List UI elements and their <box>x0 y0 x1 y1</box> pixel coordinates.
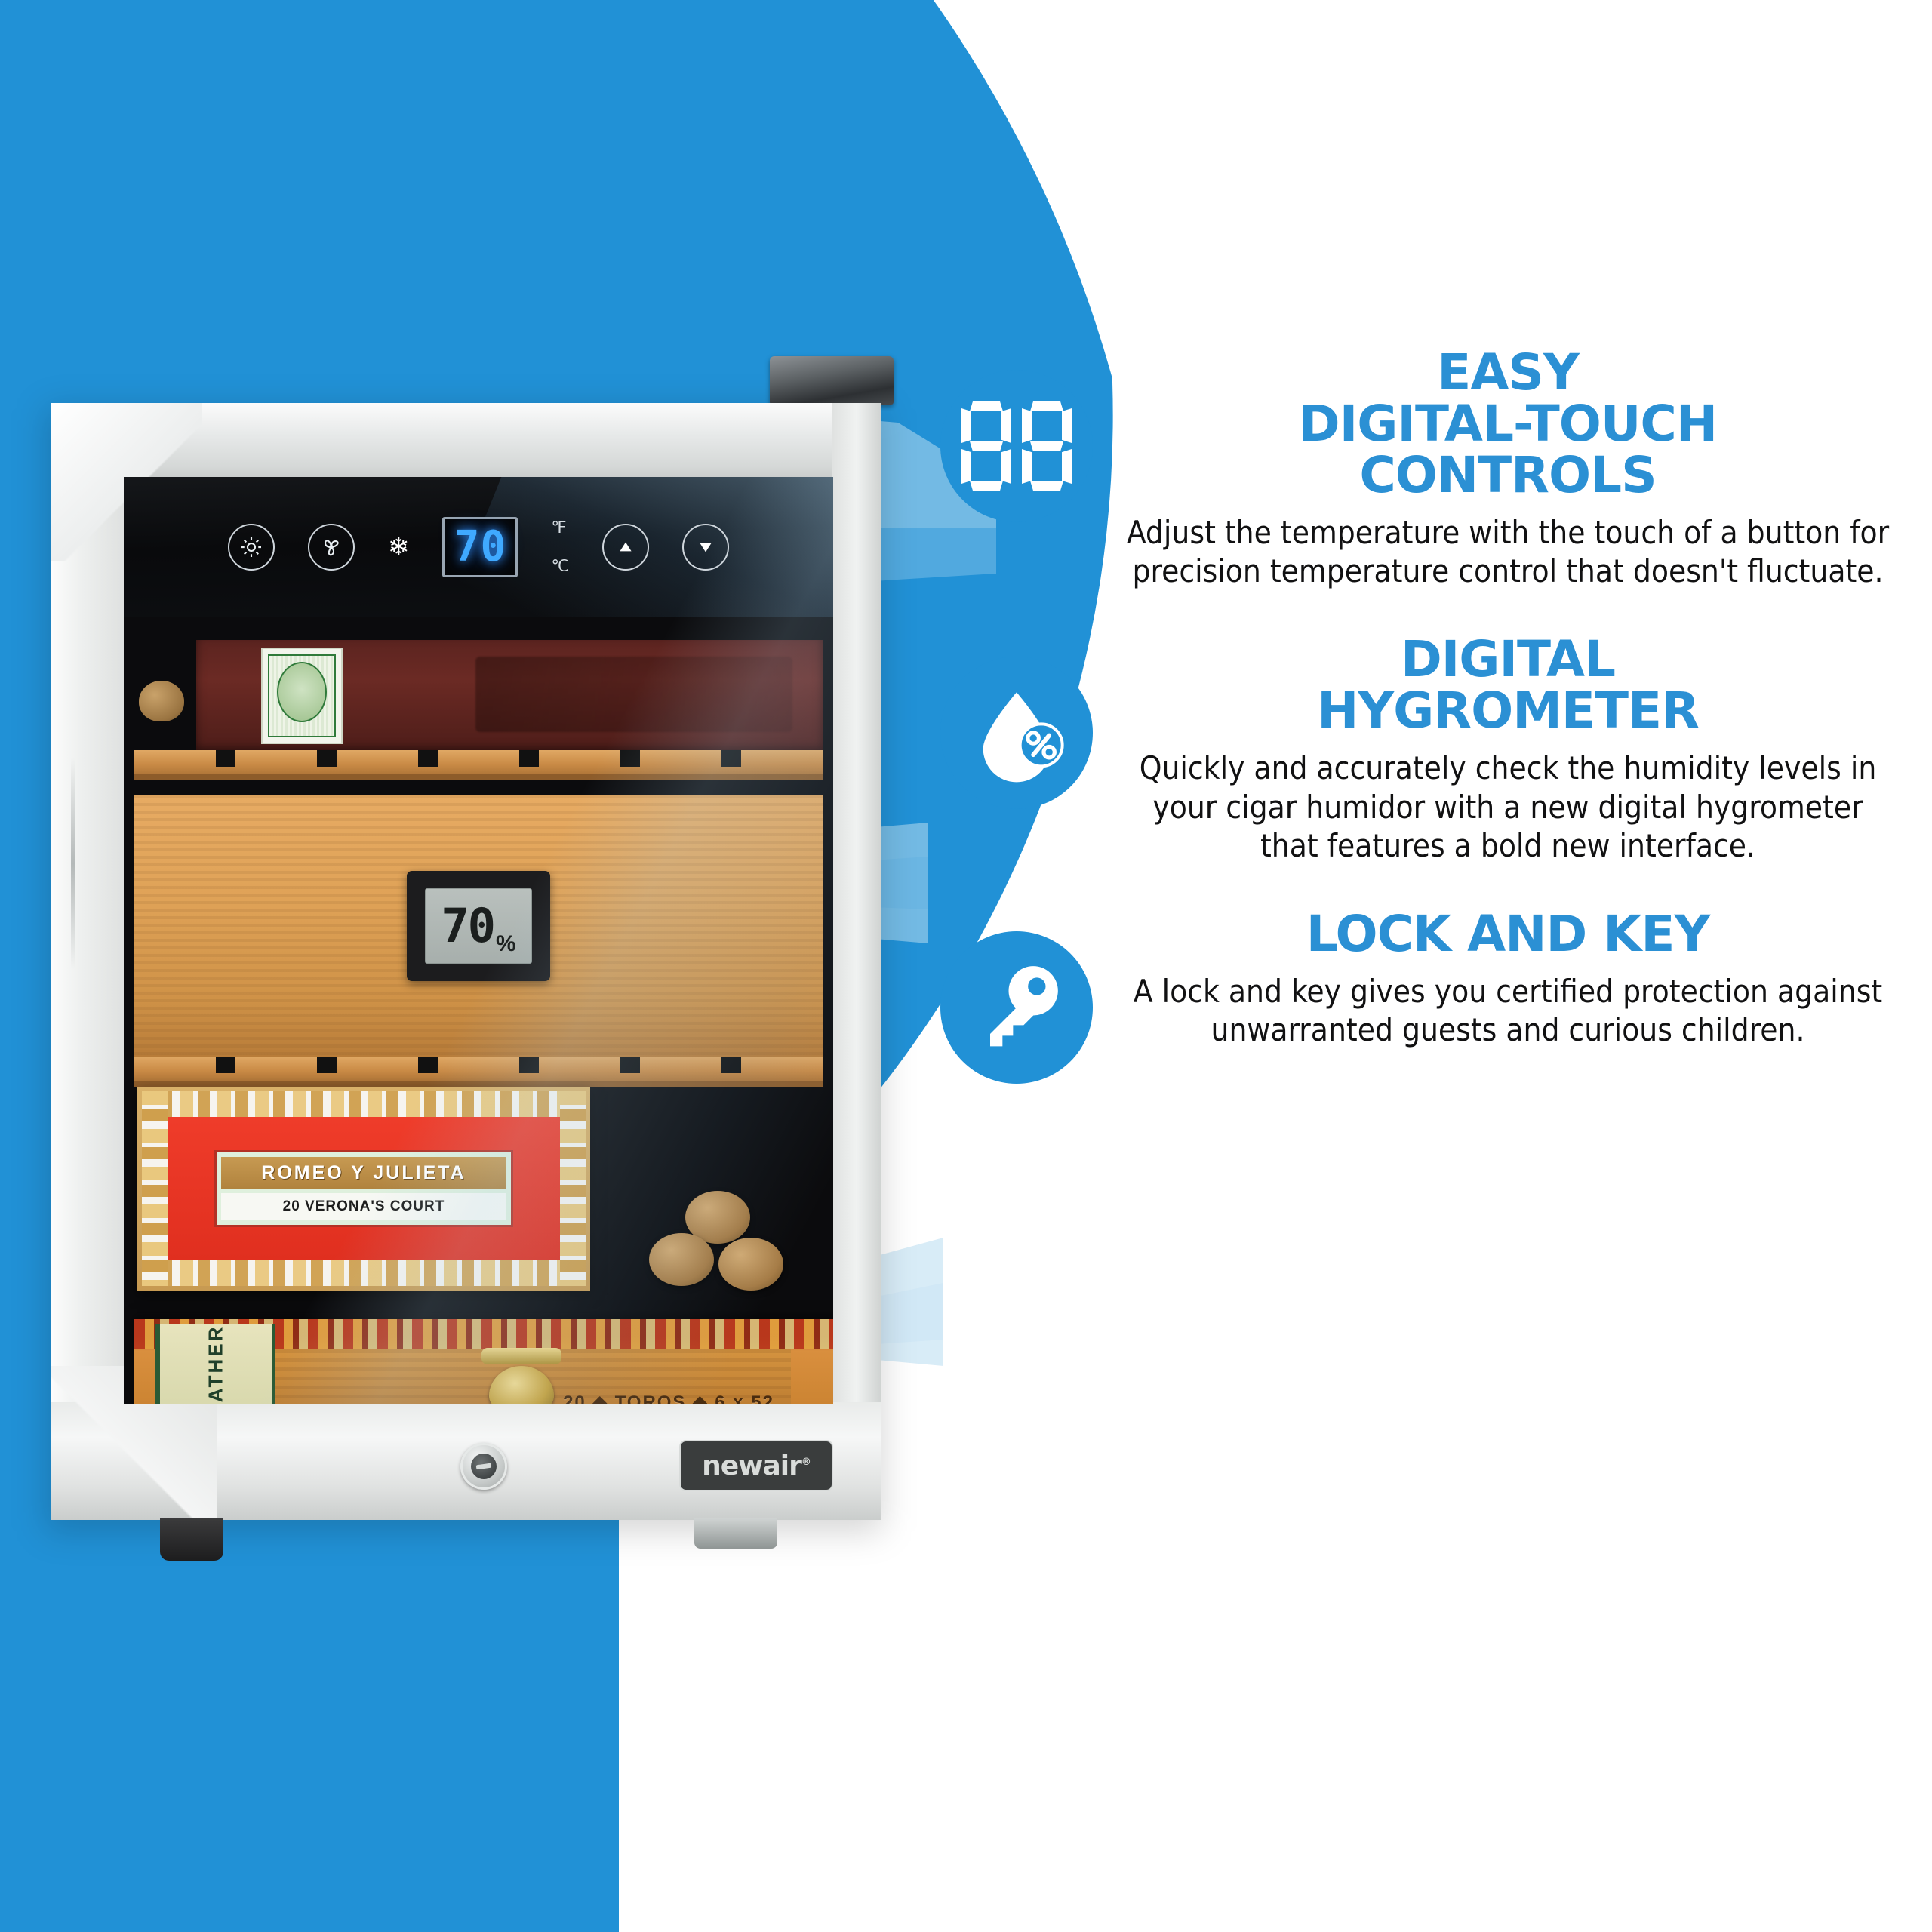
cigar-brand-name-bottom: MY FATHER <box>205 1325 228 1404</box>
digital-hygrometer: 70 % <box>407 871 550 981</box>
feature-text-block: DIGITAL HYGROMETER Quickly and accuratel… <box>1123 634 1893 865</box>
seven-segment-display-icon <box>940 370 1093 522</box>
feature-title: LOCK AND KEY <box>1123 909 1893 960</box>
seven-segment-digit <box>961 401 1011 491</box>
box-emboss <box>475 657 792 732</box>
cigar-box-upper <box>196 640 823 753</box>
feature-list: EASY DIGITAL-TOUCH CONTROLS Adjust the t… <box>921 347 1909 1093</box>
cigar-box-count-bottom: 20 ◆ TOROS ◆ 6 x 52 <box>563 1392 774 1404</box>
feature-description: A lock and key gives you certified prote… <box>1123 972 1893 1049</box>
shelf-front-edge <box>134 774 823 780</box>
medallion-band-right <box>560 1091 586 1286</box>
cigar-box-my-father: 20 ◆ TOROS ◆ 6 x 52 WARNING: This Produc… <box>134 1319 833 1404</box>
feature-title-line: DIGITAL <box>1401 630 1615 688</box>
havana-seal-stamp <box>261 648 343 744</box>
cigar-end <box>718 1238 783 1291</box>
loose-cigar-upper <box>139 681 184 721</box>
control-panel-buttons: ❄ 70 ℉ ℃ <box>124 477 833 617</box>
box-label-border: ROMEO Y JULIETA 20 VERONA'S COURT <box>142 1091 586 1286</box>
glass-door: ❄ 70 ℉ ℃ <box>124 477 833 1404</box>
feature-title-line: DIGITAL-TOUCH <box>1299 395 1717 453</box>
cabinet-left-pillar <box>51 403 124 1520</box>
feature-title-line: LOCK AND KEY <box>1306 905 1709 963</box>
feature-title-line: EASY <box>1437 343 1579 401</box>
feature-text-block: LOCK AND KEY A lock and key gives you ce… <box>1123 909 1893 1049</box>
registered-mark: ® <box>801 1457 811 1468</box>
cabinet-foot-right <box>694 1518 777 1549</box>
feature-text-block: EASY DIGITAL-TOUCH CONTROLS Adjust the t… <box>1123 347 1893 590</box>
humidor-interior: 70 % <box>124 617 833 1404</box>
cigar-box-romeo-y-julieta: ROMEO Y JULIETA 20 VERONA'S COURT <box>137 1087 590 1291</box>
feature-title-line: CONTROLS <box>1359 446 1656 504</box>
cabinet-seam <box>71 758 75 969</box>
cigar-stack <box>646 1191 789 1297</box>
feature-easy-digital-touch-controls: EASY DIGITAL-TOUCH CONTROLS Adjust the t… <box>921 347 1909 590</box>
temperature-down-button[interactable] <box>682 524 729 571</box>
humidity-value: 70 <box>441 903 494 949</box>
feature-digital-hygrometer: DIGITAL HYGROMETER Quickly and accuratel… <box>921 634 1909 865</box>
power-fan-icon[interactable] <box>308 524 355 571</box>
feature-title: EASY DIGITAL-TOUCH CONTROLS <box>1123 347 1893 501</box>
key-icon <box>940 931 1093 1084</box>
cigar-end <box>649 1233 714 1286</box>
feature-title-line: HYGROMETER <box>1317 681 1699 740</box>
medallion-band-top <box>142 1091 586 1117</box>
brand-logo-badge: newair® <box>679 1440 833 1491</box>
medallion-band-left <box>142 1091 168 1286</box>
temperature-up-button[interactable] <box>602 524 649 571</box>
humidity-unit: % <box>496 931 516 957</box>
seven-segment-digits <box>961 401 1072 491</box>
cigar-brand-name: ROMEO Y JULIETA <box>221 1157 506 1189</box>
cabinet-right-pillar <box>832 403 881 1520</box>
door-lock[interactable] <box>460 1443 507 1490</box>
feature-lock-and-key: LOCK AND KEY A lock and key gives you ce… <box>921 909 1909 1049</box>
infographic-canvas: ❄ 70 ℉ ℃ <box>0 0 1932 1932</box>
seven-segment-digit <box>1022 401 1072 491</box>
box-label-plate: ROMEO Y JULIETA 20 VERONA'S COURT <box>214 1150 512 1227</box>
shelf-front-edge-lower <box>134 1081 823 1087</box>
unit-celsius: ℃ <box>551 558 569 574</box>
unit-fahrenheit: ℉ <box>551 520 569 536</box>
temperature-value: 70 <box>454 526 506 568</box>
door-hinge <box>770 356 894 405</box>
keyhole-slot <box>476 1463 492 1470</box>
wood-drawer-front: 70 % <box>134 795 823 1057</box>
wood-shelf-lower <box>134 1057 823 1087</box>
temperature-display: 70 <box>442 517 518 577</box>
medallion-band-bottom <box>142 1260 586 1286</box>
snowflake-icon: ❄ <box>388 534 410 560</box>
seal-emblem <box>277 662 327 722</box>
temperature-unit-markers: ℉ ℃ <box>551 520 569 574</box>
humidity-droplet-percent-icon <box>940 657 1093 809</box>
feature-title: DIGITAL HYGROMETER <box>1123 634 1893 737</box>
lock-keyhole <box>471 1454 497 1479</box>
product-image-cigar-humidor: ❄ 70 ℉ ℃ <box>30 392 921 1570</box>
feature-description: Adjust the temperature with the touch of… <box>1123 513 1893 590</box>
light-icon[interactable] <box>228 524 275 571</box>
cabinet-foot-left <box>160 1518 223 1561</box>
wood-shelf-upper <box>134 750 823 780</box>
cigar-box-count: 20 VERONA'S COURT <box>221 1193 506 1220</box>
brand-logo-text: newair® <box>702 1451 811 1481</box>
box-label-red-field: ROMEO Y JULIETA 20 VERONA'S COURT <box>168 1117 560 1260</box>
feature-description: Quickly and accurately check the humidit… <box>1123 749 1893 865</box>
hygrometer-lcd: 70 % <box>425 888 532 964</box>
box-side-label: MY FATHER <box>155 1324 275 1404</box>
brand-name: newair <box>702 1451 801 1481</box>
